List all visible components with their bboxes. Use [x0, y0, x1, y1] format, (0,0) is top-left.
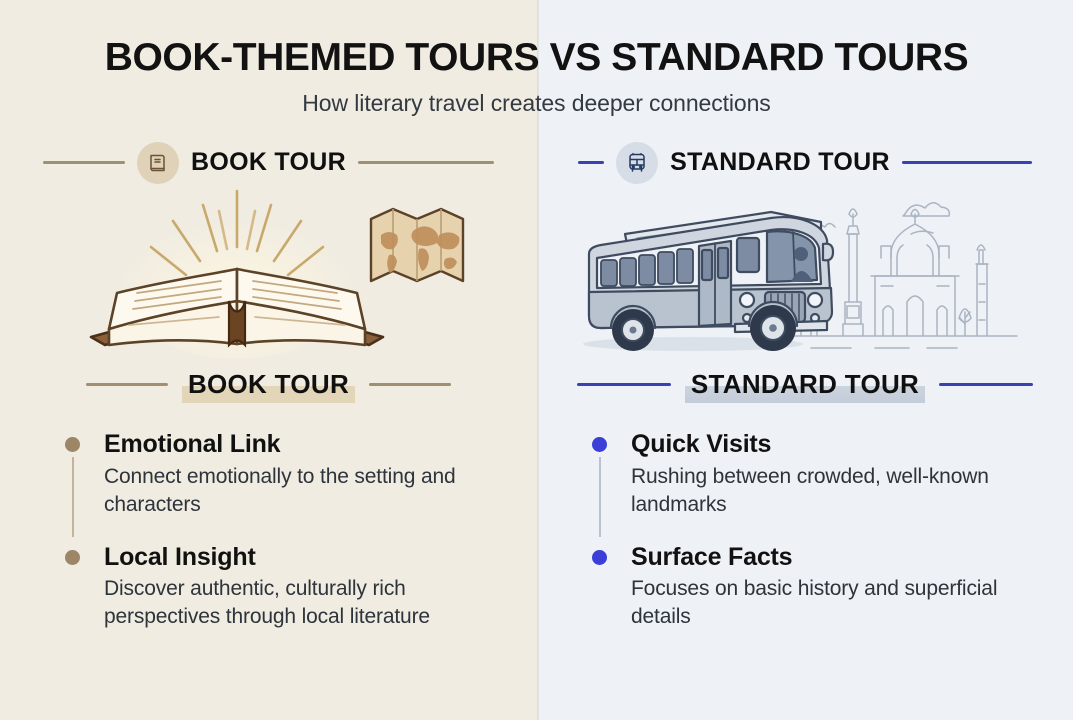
bullet-connector — [599, 457, 601, 537]
label-rule-right — [939, 383, 1033, 386]
list-item: Emotional Link Connect emotionally to th… — [60, 430, 511, 519]
label-rule-left — [577, 383, 671, 386]
bullet-dot-icon — [65, 437, 80, 452]
page-title: BOOK-THEMED TOURS VS STANDARD TOURS — [0, 38, 1073, 79]
bus-icon — [616, 142, 658, 184]
book-tour-label-row: BOOK TOUR — [0, 362, 537, 408]
book-icon — [137, 142, 179, 184]
bullet-title: Surface Facts — [631, 543, 1053, 572]
label-rule-right — [369, 383, 451, 386]
bullet-description: Rushing between crowded, well-known land… — [631, 463, 1053, 519]
book-tour-label: BOOK TOUR — [182, 369, 355, 400]
bullet-connector — [72, 457, 74, 537]
bullet-title: Local Insight — [104, 543, 511, 572]
standard-tour-label-row: STANDARD TOUR — [537, 362, 1073, 408]
comparison-columns: BOOK TOUR — [0, 139, 1073, 631]
book-tour-bullets: Emotional Link Connect emotionally to th… — [0, 408, 537, 631]
open-book-illustration — [0, 187, 537, 362]
bullet-dot-icon — [65, 550, 80, 565]
standard-tour-column: STANDARD TOUR — [537, 139, 1073, 631]
bullet-title: Emotional Link — [104, 430, 511, 459]
bullet-description: Connect emotionally to the setting and c… — [104, 463, 511, 519]
rule-left — [578, 161, 604, 164]
rule-right — [902, 161, 1032, 164]
book-tour-section-title: BOOK TOUR — [191, 148, 346, 177]
bullet-dot-icon — [592, 437, 607, 452]
standard-tour-section-header: STANDARD TOUR — [537, 139, 1073, 187]
standard-tour-label-text: STANDARD TOUR — [691, 369, 919, 400]
book-tour-column: BOOK TOUR — [0, 139, 537, 631]
rule-right — [358, 161, 494, 164]
standard-tour-section-title: STANDARD TOUR — [670, 148, 890, 177]
bullet-description: Discover authentic, culturally rich pers… — [104, 575, 511, 631]
list-item: Quick Visits Rushing between crowded, we… — [587, 430, 1053, 519]
rule-left — [43, 161, 125, 164]
page-subtitle: How literary travel creates deeper conne… — [0, 90, 1073, 117]
book-tour-section-header: BOOK TOUR — [0, 139, 537, 187]
bullet-description: Focuses on basic history and superficial… — [631, 575, 1053, 631]
list-item: Surface Facts Focuses on basic history a… — [587, 543, 1053, 632]
infographic-page: BOOK-THEMED TOURS VS STANDARD TOURS How … — [0, 0, 1073, 720]
bullet-title: Quick Visits — [631, 430, 1053, 459]
standard-tour-bullets: Quick Visits Rushing between crowded, we… — [537, 408, 1073, 631]
standard-tour-label: STANDARD TOUR — [685, 369, 925, 400]
masthead: BOOK-THEMED TOURS VS STANDARD TOURS How … — [0, 0, 1073, 117]
label-rule-left — [86, 383, 168, 386]
bullet-dot-icon — [592, 550, 607, 565]
tour-bus-illustration — [537, 187, 1073, 362]
list-item: Local Insight Discover authentic, cultur… — [60, 543, 511, 632]
book-tour-label-text: BOOK TOUR — [188, 369, 349, 400]
